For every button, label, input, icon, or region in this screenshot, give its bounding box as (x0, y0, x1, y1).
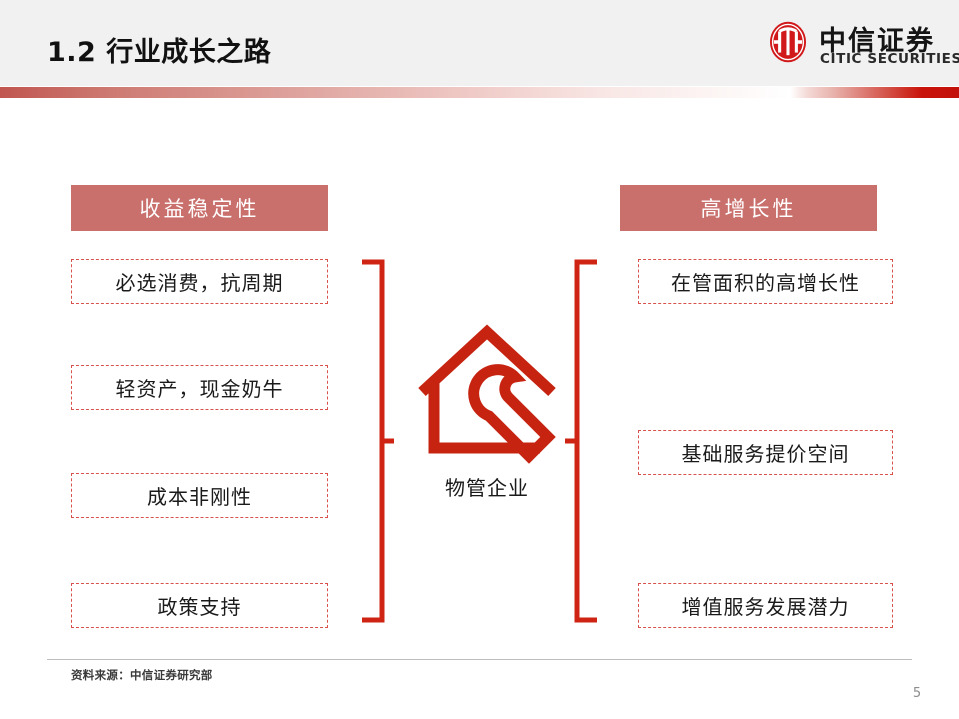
category-header-right: 高增长性 (620, 185, 877, 231)
item-label: 成本非刚性 (147, 481, 252, 510)
house-wrench-icon (412, 320, 562, 465)
citic-emblem-icon (766, 20, 810, 64)
item-box-right-2: 基础服务提价空间 (638, 430, 893, 475)
slide-canvas: 1.2 行业成长之路 中信证券 CITIC SECURITIES 收益稳定性 高… (0, 0, 959, 719)
logo-text-en: CITIC SECURITIES (820, 51, 959, 67)
source-note: 资料来源：中信证券研究部 (71, 667, 213, 683)
page-title: 1.2 行业成长之路 (47, 30, 271, 69)
item-box-left-3: 成本非刚性 (71, 473, 328, 518)
item-label: 增值服务发展潜力 (682, 591, 850, 620)
item-label: 必选消费，抗周期 (116, 267, 284, 296)
header-divider-right (790, 87, 959, 98)
item-label: 政策支持 (158, 591, 242, 620)
footer-divider (47, 659, 912, 660)
item-label: 基础服务提价空间 (682, 438, 850, 467)
category-label: 高增长性 (701, 193, 797, 223)
page-number: 5 (905, 686, 929, 701)
item-box-right-1: 在管面积的高增长性 (638, 259, 893, 304)
category-header-left: 收益稳定性 (71, 185, 328, 231)
item-label: 在管面积的高增长性 (671, 267, 860, 296)
bracket-left-icon (362, 259, 394, 623)
item-box-left-2: 轻资产，现金奶牛 (71, 365, 328, 410)
brand-logo: 中信证券 CITIC SECURITIES (766, 20, 946, 76)
item-box-left-4: 政策支持 (71, 583, 328, 628)
item-box-left-1: 必选消费，抗周期 (71, 259, 328, 304)
center-label: 物管企业 (412, 472, 562, 501)
header-divider-left (0, 87, 790, 98)
bracket-right-icon (565, 259, 597, 623)
category-label: 收益稳定性 (140, 193, 260, 223)
item-label: 轻资产，现金奶牛 (116, 373, 284, 402)
item-box-right-3: 增值服务发展潜力 (638, 583, 893, 628)
